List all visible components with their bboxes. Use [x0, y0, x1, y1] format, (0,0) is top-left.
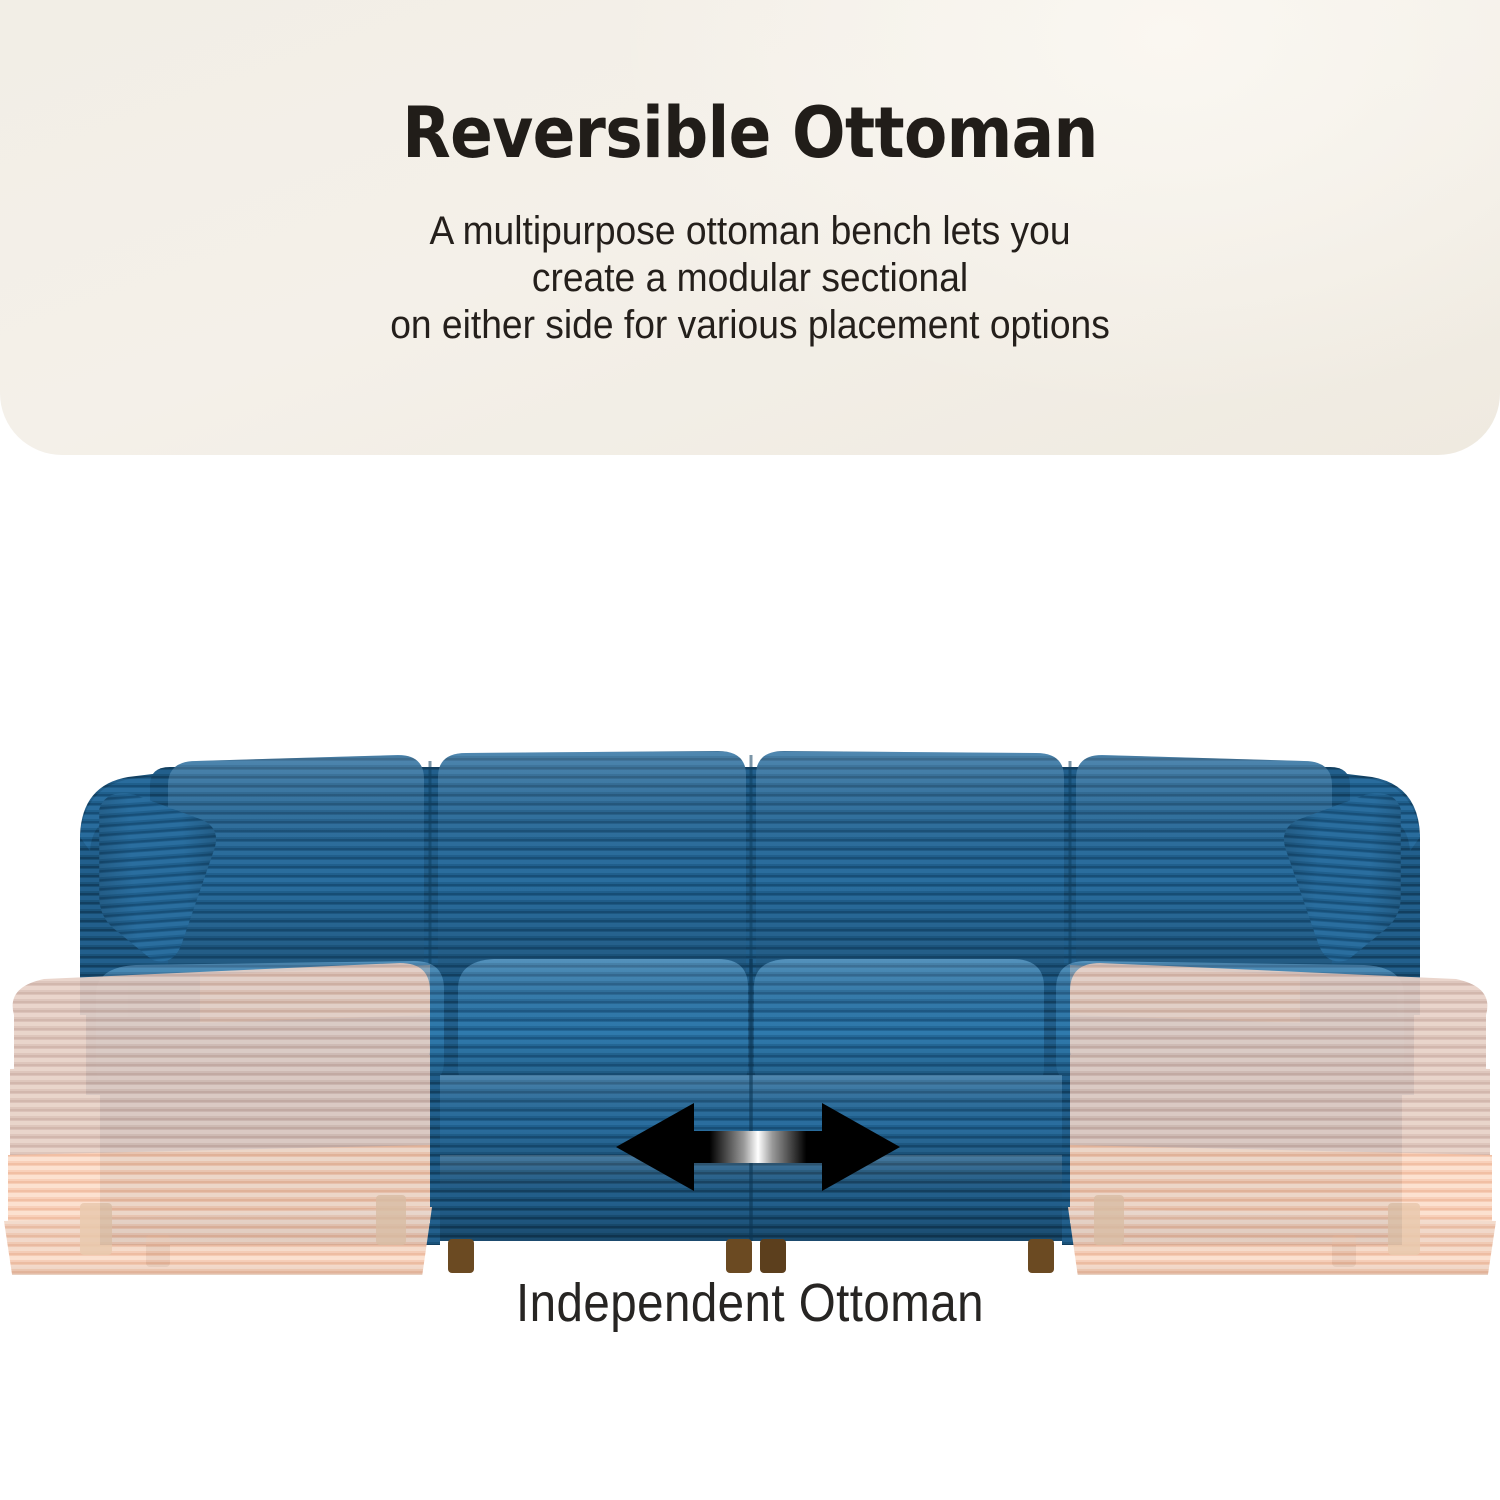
subtitle-line-2: create a modular sectional	[53, 255, 1448, 302]
sofa-leg-right	[1028, 1239, 1054, 1273]
seat-cushion-center-left-shade	[458, 959, 748, 1093]
left-ottoman-top-cushion-hi	[200, 965, 430, 1023]
sectional-sofa-illustration	[0, 455, 1500, 1275]
left-ottoman-wood-leg	[80, 1203, 112, 1255]
subtitle-line-3: on either side for various placement opt…	[53, 302, 1448, 349]
right-reversible-ottoman[interactable]	[1068, 963, 1496, 1275]
back-cushion-center-left-shade	[438, 751, 746, 989]
seat-cushion-center-right-shade	[754, 959, 1044, 1093]
page-subtitle: A multipurpose ottoman bench lets you cr…	[53, 208, 1448, 350]
header-card: Reversible Ottoman A multipurpose ottoma…	[0, 0, 1500, 455]
subtitle-line-1: A multipurpose ottoman bench lets you	[53, 208, 1448, 255]
sofa-leg-left	[448, 1239, 474, 1273]
right-ottoman-wood-leg	[1388, 1203, 1420, 1255]
right-ottoman-top-cushion-hi	[1070, 965, 1300, 1023]
sofa-leg-center-left	[726, 1239, 752, 1273]
sofa-leg-center-right	[760, 1239, 786, 1273]
right-ottoman-wood-leg-left	[1094, 1195, 1124, 1245]
page-title: Reversible Ottoman	[0, 92, 1500, 174]
left-ottoman-wood-leg-right	[376, 1195, 406, 1245]
back-cushion-center-right-shade	[756, 751, 1064, 989]
product-image-stage	[0, 455, 1500, 1275]
product-caption: Independent Ottoman	[90, 1272, 1410, 1334]
left-reversible-ottoman[interactable]	[4, 963, 432, 1275]
